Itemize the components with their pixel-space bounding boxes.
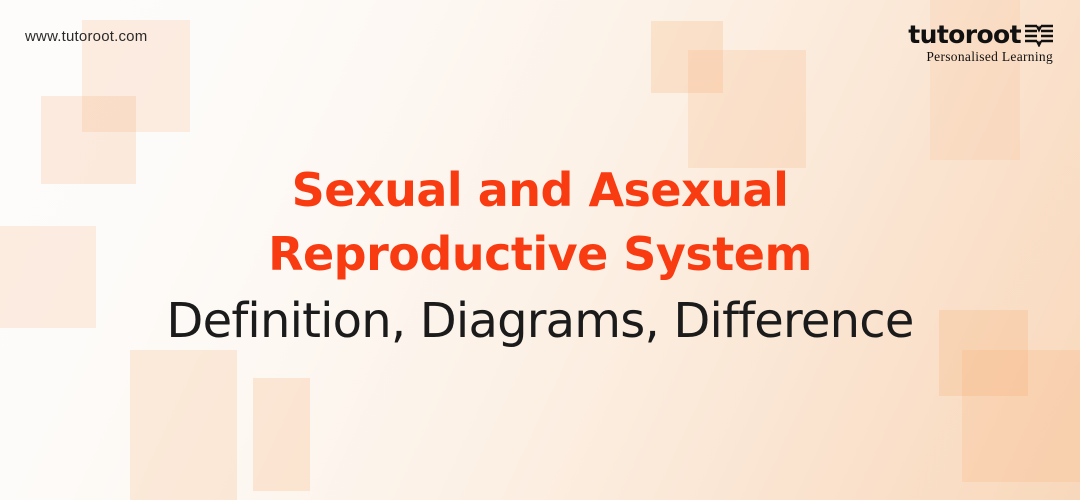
decorative-square: [962, 350, 1080, 482]
decorative-square: [651, 21, 723, 93]
logo-tagline: Personalised Learning: [908, 50, 1053, 64]
decorative-square: [253, 378, 310, 491]
page-title: Sexual and Asexual Reproductive System D…: [0, 158, 1080, 356]
article-banner: www.tutoroot.com tutoroot Personalised L…: [0, 0, 1080, 500]
decorative-square: [688, 50, 806, 168]
brand-logo[interactable]: tutoroot Personalised Learning: [908, 22, 1054, 64]
title-line-2: Reproductive System: [0, 222, 1080, 286]
decorative-square: [130, 350, 237, 500]
logo-wordmark-row: tutoroot: [908, 22, 1054, 47]
site-url-text: www.tutoroot.com: [25, 28, 147, 45]
open-book-icon: [1024, 23, 1054, 47]
title-line-1: Sexual and Asexual: [0, 158, 1080, 222]
title-subtitle: Definition, Diagrams, Difference: [0, 286, 1080, 356]
logo-wordmark: tutoroot: [908, 22, 1021, 47]
